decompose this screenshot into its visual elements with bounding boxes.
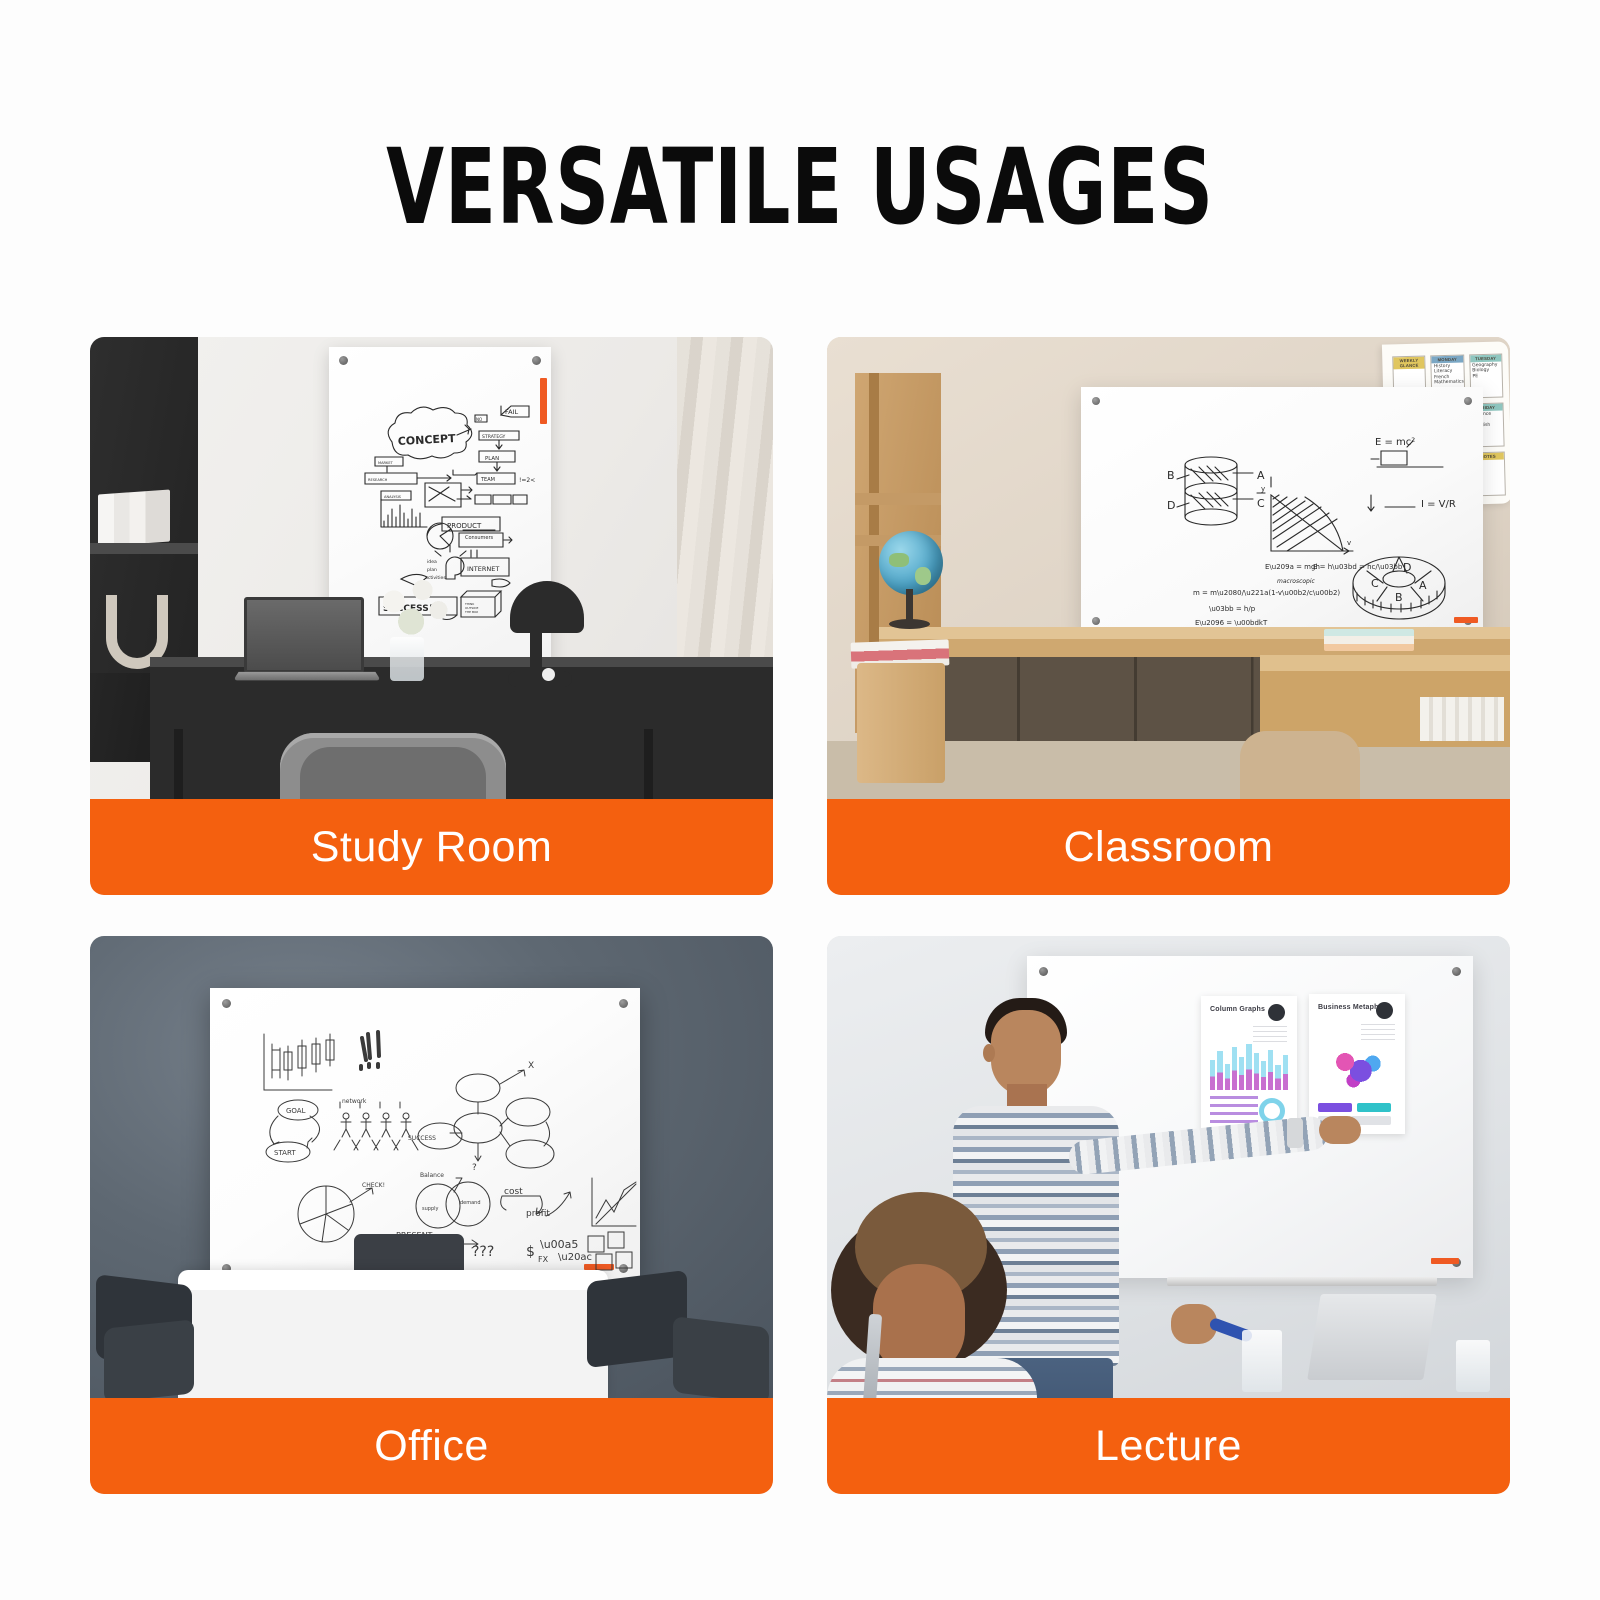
flowers <box>378 577 450 649</box>
glass-whiteboard: A B C D E = mc² I = V/R E\u209a = mgh E … <box>1081 387 1483 635</box>
study-room-scene: CONCEPT FAIL NO STRATEGY PLAN TEAM !=2< … <box>90 337 773 799</box>
svg-text:NO: NO <box>476 417 482 422</box>
wooden-stool <box>857 663 945 783</box>
svg-text:PRODUCT: PRODUCT <box>447 522 482 530</box>
meeting-chair <box>104 1319 194 1398</box>
svg-text:INTERNET: INTERNET <box>467 565 499 573</box>
svg-text:\u20ac: \u20ac <box>558 1252 592 1263</box>
svg-text:demand: demand <box>460 1200 481 1206</box>
poster-business-metaphor: Business Metaphor <box>1309 994 1405 1134</box>
svg-text:Balance: Balance <box>420 1172 444 1179</box>
svg-text:C: C <box>1371 577 1379 590</box>
globe <box>879 531 943 595</box>
usage-card-study-room[interactable]: CONCEPT FAIL NO STRATEGY PLAN TEAM !=2< … <box>90 337 773 895</box>
laptop-keyboard <box>233 672 381 680</box>
magnet-icon <box>1268 1004 1285 1021</box>
svg-text:SUCCESS: SUCCESS <box>408 1135 436 1142</box>
svg-text:?: ? <box>472 1163 477 1173</box>
svg-text:plan: plan <box>427 567 437 573</box>
svg-text:\u03bb = h/p: \u03bb = h/p <box>1209 605 1256 613</box>
usage-card-lecture[interactable]: Column Graphs Bu <box>827 936 1510 1494</box>
usage-card-classroom[interactable]: WEEKLY GLANCE MONDAY HistoryLiteracyFren… <box>827 337 1510 895</box>
glass-tumbler <box>1456 1340 1490 1392</box>
svg-text:C: C <box>1257 497 1265 510</box>
svg-text:MARKET: MARKET <box>378 461 394 465</box>
svg-text:D: D <box>1167 499 1175 512</box>
svg-text:supply: supply <box>422 1206 439 1212</box>
page-title: VERSATILE USAGES <box>160 135 1440 239</box>
svg-text:CONCEPT: CONCEPT <box>397 432 456 448</box>
svg-text:\u00a5: \u00a5 <box>540 1238 578 1251</box>
wristwatch <box>1287 1118 1303 1148</box>
poster-placeholder-lines <box>1361 1024 1395 1040</box>
conference-table <box>178 1270 608 1398</box>
globe-stand <box>906 589 913 623</box>
svg-text:network: network <box>342 1098 367 1105</box>
caption-office: Office <box>90 1398 773 1494</box>
svg-text:THE BOX: THE BOX <box>464 610 478 614</box>
whiteboard-physics-sketch: A B C D E = mc² I = V/R E\u209a = mgh E … <box>1081 387 1483 635</box>
chair <box>1240 731 1360 799</box>
magnet-icon <box>1376 1002 1393 1019</box>
desk-lamp-base <box>508 671 572 687</box>
classroom-photo: WEEKLY GLANCE MONDAY HistoryLiteracyFren… <box>827 337 1510 799</box>
svg-text:E = h\u03bd = hc/\u03bb: E = h\u03bd = hc/\u03bb <box>1313 563 1403 571</box>
svg-text:ANALYSIS: ANALYSIS <box>384 495 402 499</box>
desk-lamp-arm <box>530 629 542 677</box>
svg-text:I = V/R: I = V/R <box>1421 499 1456 510</box>
poster-puzzle-diagram <box>1335 1050 1381 1090</box>
poster-tag <box>1357 1103 1391 1112</box>
desk-lamp-switch <box>542 668 555 681</box>
svg-text:!=2<: !=2< <box>519 477 535 484</box>
office-photo: GOAL START network SUCCESS X ? CHECK! Ba… <box>90 936 773 1398</box>
poster-tag <box>1318 1103 1352 1112</box>
laptop <box>1307 1294 1437 1380</box>
poster-bar-chart <box>1210 1040 1288 1090</box>
shelf-ledge <box>90 543 198 554</box>
svg-text:A: A <box>1419 579 1427 592</box>
poster-column-graphs: Column Graphs <box>1201 996 1297 1136</box>
brand-logo-strip <box>1431 1258 1459 1264</box>
svg-text:???: ??? <box>472 1244 494 1260</box>
planner-day-items: HistoryLiteracyFrenchMathematics <box>1432 363 1464 387</box>
svg-text:A: A <box>1257 469 1265 482</box>
meeting-chair <box>587 1270 687 1368</box>
marker-tray <box>1167 1277 1437 1286</box>
lecture-scene: Column Graphs Bu <box>827 936 1510 1398</box>
meeting-chair <box>673 1316 769 1398</box>
laptop-screen <box>244 597 364 673</box>
usage-card-office[interactable]: GOAL START network SUCCESS X ? CHECK! Ba… <box>90 936 773 1494</box>
office-chair-inner <box>300 747 486 799</box>
planner-day-items <box>1394 369 1425 372</box>
lecture-photo: Column Graphs Bu <box>827 936 1510 1398</box>
office-scene: GOAL START network SUCCESS X ? CHECK! Ba… <box>90 936 773 1398</box>
usage-card-grid: CONCEPT FAIL NO STRATEGY PLAN TEAM !=2< … <box>90 337 1510 1494</box>
svg-text:GOAL: GOAL <box>286 1107 306 1115</box>
planner-day-header: WEEKLY GLANCE <box>1393 357 1425 370</box>
paper-rolls <box>1420 697 1504 741</box>
mount-stud-icon <box>1452 967 1461 976</box>
svg-text:D: D <box>1403 561 1411 574</box>
svg-text:E\u2096 = \u00bdkT: E\u2096 = \u00bdkT <box>1195 619 1268 627</box>
svg-text:macroscopic: macroscopic <box>1277 578 1316 585</box>
svg-text:FX: FX <box>538 1255 549 1264</box>
pointing-hand <box>1319 1116 1361 1144</box>
svg-text:E = mc²: E = mc² <box>1375 437 1415 448</box>
globe-base <box>889 619 930 629</box>
caption-study-room: Study Room <box>90 799 773 895</box>
svg-text:$: $ <box>526 1244 535 1260</box>
svg-text:v: v <box>1347 539 1351 547</box>
svg-text:TEAM: TEAM <box>480 477 495 483</box>
svg-text:B: B <box>1167 469 1175 482</box>
svg-text:profit: profit <box>526 1209 550 1219</box>
glass-tumbler <box>1242 1330 1282 1392</box>
caption-classroom: Classroom <box>827 799 1510 895</box>
notebooks <box>1324 629 1414 651</box>
caption-lecture: Lecture <box>827 1398 1510 1494</box>
svg-text:Consumers: Consumers <box>465 535 493 541</box>
svg-text:RESEARCH: RESEARCH <box>368 478 388 482</box>
svg-text:STRATEGY: STRATEGY <box>482 434 506 440</box>
svg-text:idea: idea <box>427 559 437 565</box>
svg-text:PLAN: PLAN <box>485 456 499 462</box>
svg-text:X: X <box>528 1061 534 1071</box>
study-room-photo: CONCEPT FAIL NO STRATEGY PLAN TEAM !=2< … <box>90 337 773 799</box>
svg-text:FAIL: FAIL <box>505 408 519 416</box>
planner-day-items: GeographyBiologyPE <box>1470 362 1502 381</box>
svg-text:E\u209a = mgh: E\u209a = mgh <box>1265 563 1320 571</box>
striped-top <box>827 1358 1037 1398</box>
svg-text:y: y <box>1261 485 1265 493</box>
svg-text:CHECK!: CHECK! <box>362 1182 385 1189</box>
svg-text:START: START <box>274 1149 296 1157</box>
svg-text:m = m\u2080/\u221a(1-v\u00b2/c: m = m\u2080/\u221a(1-v\u00b2/c\u00b2) <box>1193 589 1340 597</box>
classroom-scene: WEEKLY GLANCE MONDAY HistoryLiteracyFren… <box>827 337 1510 799</box>
svg-text:cost: cost <box>504 1187 523 1197</box>
listener-person <box>837 996 1057 1398</box>
wooden-counter <box>879 627 1510 657</box>
svg-text:B: B <box>1395 591 1403 604</box>
shelf-books <box>98 489 170 546</box>
